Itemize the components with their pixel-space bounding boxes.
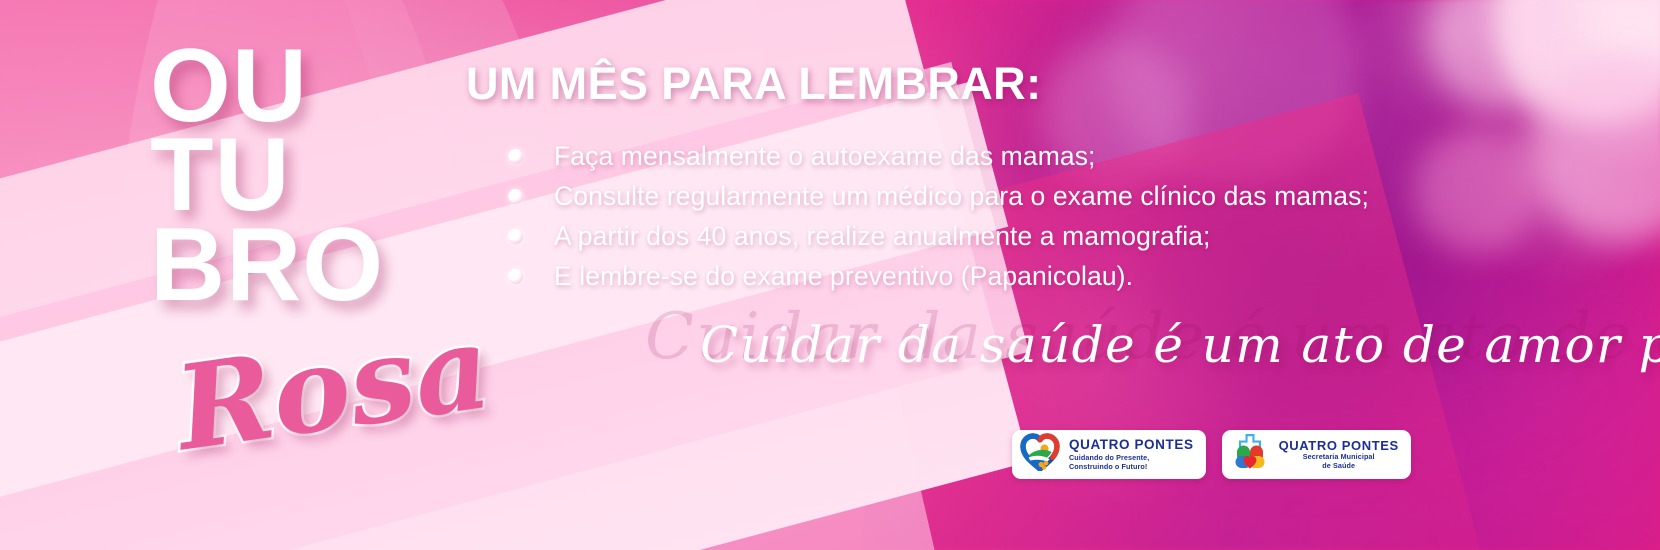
logo-strip: QUATRO PONTES Cuidando do Presente, Cons… — [1012, 430, 1411, 479]
page-title: UM MÊS PARA LEMBRAR: — [466, 58, 1041, 110]
logo-card-prefeitura[interactable]: QUATRO PONTES Cuidando do Presente, Cons… — [1012, 430, 1206, 479]
recommendation-list: Faça mensalmente o autoexame das mamas; … — [508, 136, 1369, 296]
logo-text-block: QUATRO PONTES Secretaria Municipal de Sa… — [1279, 439, 1399, 471]
list-item-label: Faça mensalmente o autoexame das mamas; — [554, 141, 1096, 172]
bullet-dot-icon — [508, 269, 523, 284]
list-item-label: A partir dos 40 anos, realize anualmente… — [554, 221, 1211, 252]
logo-card-secretaria-saude[interactable]: QUATRO PONTES Secretaria Municipal de Sa… — [1222, 430, 1411, 479]
logo-subtitle-line-2: Construindo o Futuro! — [1069, 462, 1194, 471]
list-item: E lembre-se do exame preventivo (Papanic… — [508, 256, 1369, 296]
logo-title: QUATRO PONTES — [1069, 438, 1194, 452]
logo-title: QUATRO PONTES — [1279, 439, 1399, 453]
bullet-dot-icon — [508, 189, 523, 204]
list-item: Faça mensalmente o autoexame das mamas; — [508, 136, 1369, 176]
outubro-rosa-banner: OU TU BRO Rosa UM MÊS PARA LEMBRAR: Faça… — [0, 0, 1660, 550]
hands-cross-heart-icon — [1230, 432, 1270, 477]
tagline: Cuidar da saúde é um ato de amor próprio… — [700, 318, 1500, 373]
list-item-label: Consulte regularmente um médico para o e… — [554, 181, 1369, 212]
list-item: Consulte regularmente um médico para o e… — [508, 176, 1369, 216]
campaign-title: OU TU BRO — [150, 42, 480, 310]
bullet-dot-icon — [508, 149, 523, 164]
list-item-label: E lembre-se do exame preventivo (Papanic… — [554, 261, 1133, 292]
logo-subtitle-line-1: Cuidando do Presente, — [1069, 453, 1194, 462]
heart-landscape-icon — [1020, 433, 1060, 476]
list-item: A partir dos 40 anos, realize anualmente… — [508, 216, 1369, 256]
logo-subtitle-line-1: Secretaria Municipal — [1303, 452, 1375, 461]
bullet-dot-icon — [508, 229, 523, 244]
campaign-title-line-3: BRO — [150, 221, 480, 310]
logo-text-block: QUATRO PONTES Cuidando do Presente, Cons… — [1069, 438, 1194, 470]
logo-subtitle-line-2: de Saúde — [1322, 461, 1355, 470]
